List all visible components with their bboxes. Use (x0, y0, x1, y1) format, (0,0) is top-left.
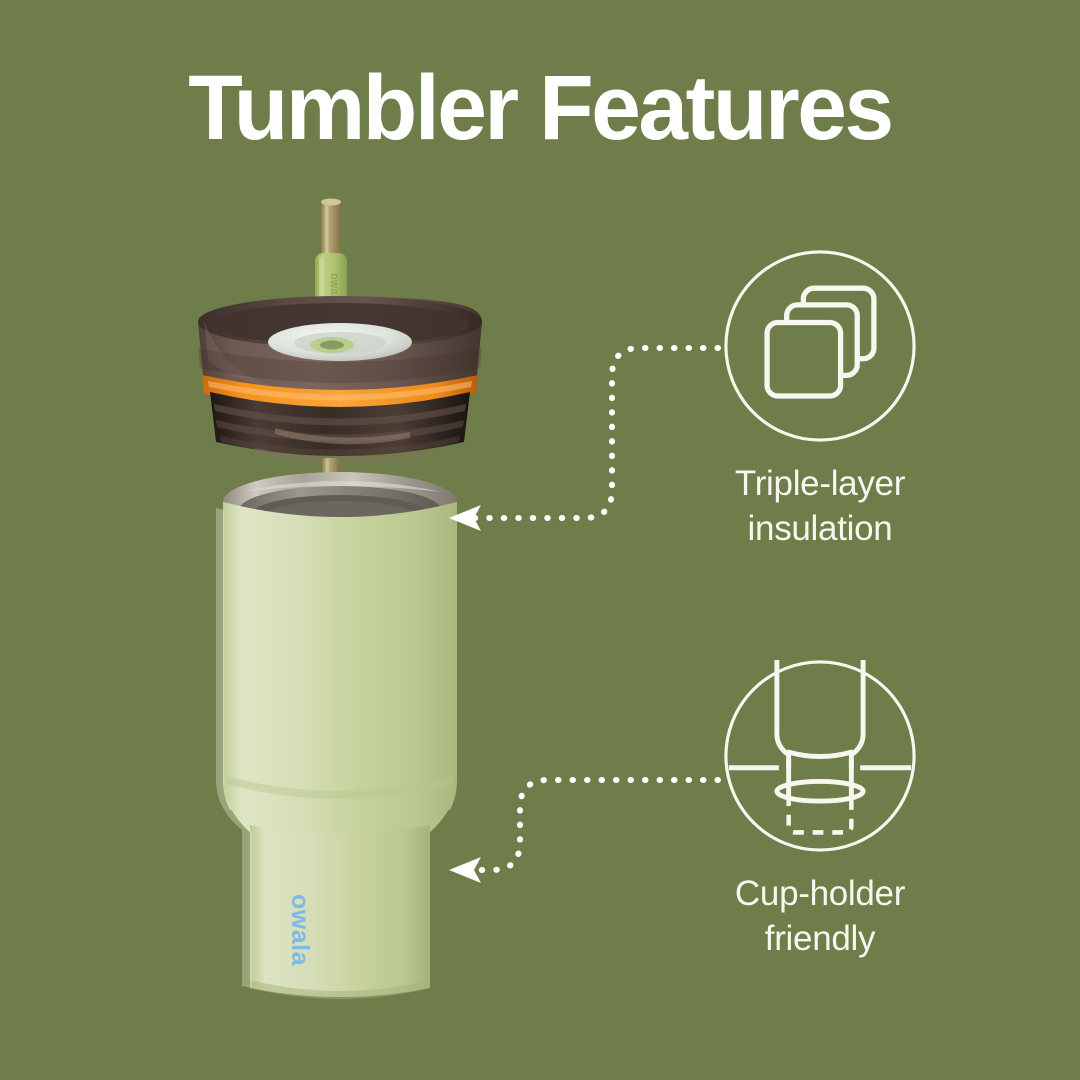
stacked-layers-icon (722, 248, 918, 444)
tumbler-body-upper (223, 502, 457, 810)
page-title: Tumbler Features (16, 62, 1064, 154)
feature-label-cupholder: Cup-holder friendly (655, 872, 985, 962)
feature-label-cupholder-line1: Cup-holder (735, 874, 905, 913)
tumbler-brand-logo: owala (286, 894, 314, 967)
feature-label-cupholder-line2: friendly (655, 917, 985, 962)
feature-label-insulation-line1: Triple-layer (735, 464, 905, 503)
tumbler-body-lower (250, 825, 430, 997)
feature-label-insulation: Triple-layer insulation (655, 462, 985, 552)
feature-triple-layer-insulation: Triple-layer insulation (655, 248, 985, 552)
feature-cup-holder-friendly: Cup-holder friendly (655, 658, 985, 962)
cup-holder-icon (722, 658, 918, 854)
feature-label-insulation-line2: insulation (655, 507, 985, 552)
product-illustration: owala (180, 170, 540, 1030)
infographic-canvas: Tumbler Features (0, 0, 1080, 1080)
